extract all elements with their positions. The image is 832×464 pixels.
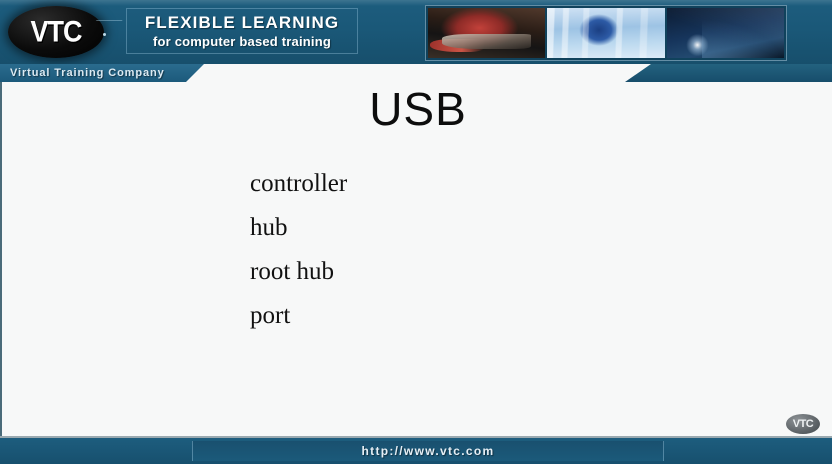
tagline-subtitle: for computer based training [127, 33, 357, 50]
vtc-logo-text: VTC [31, 15, 82, 48]
vtc-watermark: VTC [786, 414, 820, 434]
slide-bullet-list: controller hub root hub port [250, 162, 710, 338]
list-item: root hub [250, 250, 710, 294]
tagline-box: FLEXIBLE LEARNING for computer based tra… [126, 8, 358, 54]
company-name-bar: Virtual Training Company [0, 64, 186, 82]
tagline-title: FLEXIBLE LEARNING [127, 13, 357, 33]
header-right-band [625, 64, 832, 82]
list-item: controller [250, 162, 710, 206]
header-image-strip [425, 5, 787, 61]
company-name-label: Virtual Training Company [0, 67, 165, 79]
vtc-logo: VTC [8, 6, 104, 58]
header-banner: VTC FLEXIBLE LEARNING for computer based… [0, 0, 832, 64]
footer-url-text[interactable]: http://www.vtc.com [362, 444, 495, 458]
list-item: hub [250, 206, 710, 250]
vtc-watermark-text: VTC [793, 418, 814, 430]
list-item: port [250, 294, 710, 338]
vtc-training-slide: VTC FLEXIBLE LEARNING for computer based… [0, 0, 832, 464]
footer-url-panel: http://www.vtc.com [192, 441, 664, 461]
company-bar-wedge [186, 64, 204, 82]
hand-on-keyboard-photo [428, 8, 545, 58]
slide-content-area: USB controller hub root hub port VTC [0, 82, 832, 438]
dark-blue-light-flare-photo [667, 8, 784, 58]
slide-title: USB [2, 82, 832, 136]
logo-spark-dot [103, 33, 106, 36]
footer-bar: http://www.vtc.com [0, 438, 832, 464]
blue-office-abstract-photo [547, 8, 664, 58]
